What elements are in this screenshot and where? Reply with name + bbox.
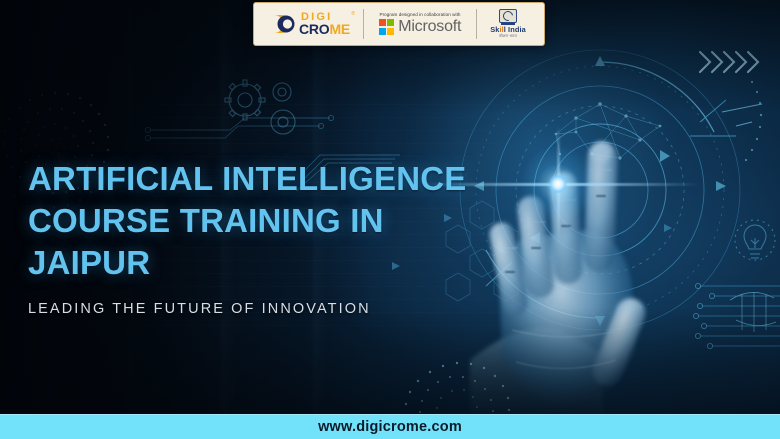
microsoft-wordmark: Microsoft [398,18,461,36]
hero-subtitle: LEADING THE FUTURE OF INNOVATION [28,301,371,317]
headline-line-1: ARTIFICIAL INTELLIGENCE [28,158,528,200]
headline-line-2: COURSE TRAINING IN [28,200,528,242]
website-url[interactable]: www.digicrome.com [318,419,462,435]
microsoft-squares-icon [379,19,395,35]
skill-india-logo[interactable]: Skill India कौशल भारत [477,3,539,45]
hero-headline: ARTIFICIAL INTELLIGENCE COURSE TRAINING … [28,158,528,285]
skill-india-title: Skill India [490,25,526,34]
skill-india-emblem-icon [499,9,517,23]
collaboration-caption: Program designed in collaboration with [379,12,460,17]
microsoft-logo[interactable]: Program designed in collaboration with M… [364,3,476,45]
headline-line-3: JAIPUR [28,242,528,284]
digicrome-word-crome: CROME [299,22,350,36]
digicrome-mark-icon [272,12,298,36]
partner-logo-bar: DIGI CROME ® Program designed in collabo… [253,2,545,46]
registered-trademark-icon: ® [351,11,355,17]
digicrome-logo[interactable]: DIGI CROME ® [259,3,363,45]
footer-bar: www.digicrome.com [0,414,780,439]
ai-course-banner: DIGI CROME ® Program designed in collabo… [0,0,780,439]
skill-india-subtitle: कौशल भारत [499,34,517,39]
